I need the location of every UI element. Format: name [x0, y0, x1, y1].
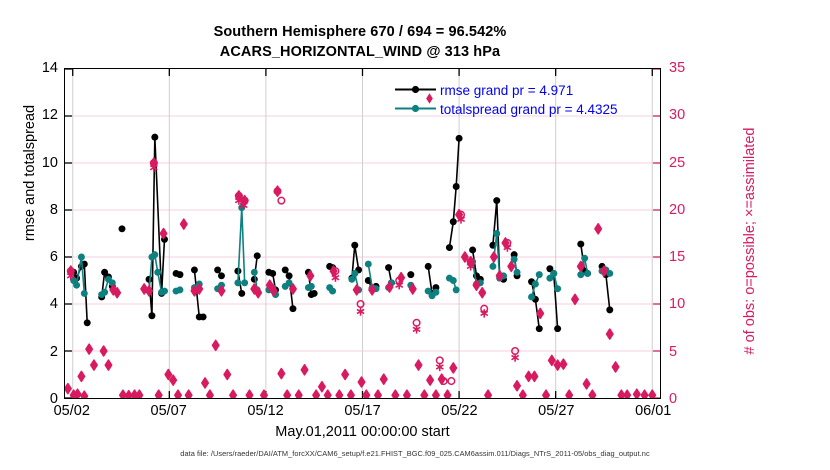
- data-point-marker: [446, 244, 453, 251]
- obs-diamond-marker: [649, 390, 655, 398]
- data-point-marker: [432, 289, 439, 296]
- obs-diamond-marker: [246, 390, 252, 398]
- obs-diamond-marker: [392, 390, 398, 398]
- y-tick-label-right: 5: [669, 344, 677, 360]
- obs-diamond-marker: [491, 252, 497, 262]
- obs-diamond-marker: [624, 390, 630, 398]
- data-point-marker: [606, 306, 613, 313]
- obs-diamond-marker: [301, 365, 307, 375]
- data-point-marker: [536, 325, 543, 332]
- data-point-marker: [119, 225, 126, 232]
- obs-diamond-marker: [105, 360, 111, 370]
- legend-marker-obs-diamond-icon: [407, 89, 452, 108]
- obs-diamond-marker: [230, 390, 236, 398]
- data-point-marker: [214, 266, 221, 273]
- data-point-marker: [329, 288, 336, 295]
- data-point-marker: [351, 270, 358, 277]
- data-point-marker: [251, 269, 258, 276]
- data-point-marker: [241, 279, 248, 286]
- obs-diamond-marker: [224, 370, 230, 380]
- data-point-marker: [532, 281, 539, 288]
- obs-diamond-marker: [520, 390, 526, 398]
- legend-label-totalspread: totalspread grand pr = 4.4325: [440, 102, 618, 117]
- obs-diamond-marker: [485, 390, 491, 398]
- data-point-marker: [148, 312, 155, 319]
- obs-diamond-marker: [634, 389, 640, 398]
- obs-diamond-marker: [65, 384, 71, 394]
- obs-diamond-marker: [325, 390, 331, 398]
- data-point-marker: [456, 135, 463, 142]
- obs-diamond-marker: [342, 370, 348, 380]
- data-point-marker: [73, 282, 80, 289]
- series-line: [532, 282, 540, 329]
- data-point-marker: [101, 289, 108, 296]
- data-point-marker: [286, 272, 293, 279]
- obs-diamond-marker: [607, 329, 613, 339]
- y-tick-label-left: 4: [50, 296, 58, 312]
- obs-diamond-marker: [86, 344, 92, 354]
- x-tick-label: 05/12: [247, 403, 283, 419]
- obs-diamond-marker: [319, 382, 325, 392]
- obs-diamond-marker: [572, 294, 578, 304]
- obs-diamond-marker: [589, 390, 595, 398]
- obs-diamond-marker: [375, 390, 381, 398]
- obs-diamond-marker: [175, 390, 181, 398]
- obs-diamond-marker: [566, 390, 572, 398]
- obs-diamond-marker: [595, 224, 601, 234]
- obs-possible-marker: [413, 320, 420, 327]
- data-point-marker: [577, 271, 584, 278]
- data-point-marker: [453, 183, 460, 190]
- data-point-marker: [238, 290, 245, 297]
- obs-diamond-marker: [296, 390, 302, 398]
- obs-possible-marker: [278, 197, 285, 204]
- data-point-marker: [289, 305, 296, 312]
- obs-diamond-marker: [78, 371, 84, 381]
- chart-title-line-2: ACARS_HORIZONTAL_WIND @ 313 hPa: [0, 42, 720, 62]
- obs-diamond-marker: [415, 360, 421, 370]
- data-point-marker: [151, 134, 158, 141]
- data-point-marker: [581, 255, 588, 262]
- data-point-marker: [176, 286, 183, 293]
- data-point-marker: [218, 272, 225, 279]
- data-point-marker: [234, 279, 241, 286]
- y-tick-label-right: 35: [669, 60, 685, 76]
- y-tick-label-right: 15: [669, 249, 685, 265]
- data-point-marker: [450, 218, 457, 225]
- data-point-marker: [407, 271, 414, 278]
- data-point-marker: [308, 283, 315, 290]
- data-point-marker: [425, 263, 432, 270]
- obs-diamond-marker: [450, 363, 456, 373]
- obs-possible-marker: [448, 378, 455, 385]
- obs-diamond-marker: [381, 374, 387, 384]
- data-point-marker: [81, 290, 88, 297]
- data-point-marker: [176, 271, 183, 278]
- obs-diamond-marker: [479, 288, 485, 298]
- obs-diamond-marker: [508, 261, 514, 271]
- obs-diamond-marker: [514, 381, 520, 391]
- y-tick-label-left: 10: [42, 155, 58, 171]
- obs-diamond-marker: [421, 390, 427, 398]
- data-point-marker: [577, 241, 584, 248]
- data-point-marker: [514, 269, 521, 276]
- obs-diamond-marker: [439, 374, 445, 384]
- obs-diamond-marker: [531, 371, 537, 381]
- data-point-marker: [493, 197, 500, 204]
- x-tick-label: 05/27: [538, 403, 574, 419]
- obs-diamond-marker: [274, 186, 280, 196]
- data-point-marker: [584, 270, 591, 277]
- x-tick-label: 05/17: [344, 403, 380, 419]
- data-point-marker: [151, 251, 158, 258]
- x-tick-label: 05/07: [151, 403, 187, 419]
- obs-diamond-marker: [560, 359, 566, 369]
- legend-label-rmse: rmse grand pr = 4.971: [440, 83, 573, 98]
- data-point-marker: [269, 270, 276, 277]
- figure-canvas: Southern Hemisphere 670 / 694 = 96.542% …: [0, 0, 830, 470]
- obs-diamond-marker: [120, 390, 126, 398]
- data-point-marker: [78, 254, 85, 261]
- obs-diamond-marker: [618, 390, 624, 398]
- data-point-marker: [469, 246, 476, 253]
- data-point-marker: [311, 290, 318, 297]
- obs-diamond-marker: [363, 390, 369, 398]
- data-point-marker: [450, 277, 457, 284]
- data-point-marker: [200, 313, 207, 320]
- x-tick-label: 05/02: [54, 403, 90, 419]
- data-point-marker: [554, 285, 561, 292]
- obs-diamond-marker: [583, 379, 589, 389]
- obs-diamond-marker: [284, 390, 290, 398]
- obs-diamond-marker: [181, 219, 187, 229]
- x-tick-label: 05/22: [441, 403, 477, 419]
- obs-diamond-marker: [202, 378, 208, 388]
- series-line: [449, 138, 459, 247]
- data-point-marker: [365, 261, 372, 268]
- data-point-marker: [84, 319, 91, 326]
- y-tick-label-left: 12: [42, 107, 58, 123]
- data-point-marker: [489, 263, 496, 270]
- data-point-marker: [528, 293, 535, 300]
- data-point-marker: [453, 286, 460, 293]
- y-axis-left-label: rmse and totalspread: [22, 38, 38, 308]
- data-point-marker: [254, 252, 261, 259]
- obs-diamond-marker: [100, 346, 106, 356]
- data-point-marker: [536, 271, 543, 278]
- obs-diamond-marker: [427, 375, 433, 385]
- data-point-marker: [154, 269, 161, 276]
- chart-title-line-1: Southern Hemisphere 670 / 694 = 96.542%: [0, 22, 720, 42]
- y-tick-label-right: 25: [669, 155, 685, 171]
- x-tick-label: 06/01: [635, 403, 671, 419]
- data-point-marker: [161, 288, 168, 295]
- obs-diamond-marker: [313, 390, 319, 398]
- data-point-marker: [493, 230, 500, 237]
- obs-diamond-marker: [336, 390, 342, 398]
- data-file-note: data file: /Users/raeder/DAI/ATM_forcXX/…: [0, 449, 830, 458]
- data-point-marker: [554, 325, 561, 332]
- obs-diamond-marker: [81, 391, 87, 398]
- chart-title: Southern Hemisphere 670 / 694 = 96.542% …: [0, 22, 720, 62]
- y-tick-label-right: 30: [669, 107, 685, 123]
- y-tick-label-right: 10: [669, 296, 685, 312]
- data-point-marker: [550, 270, 557, 277]
- obs-diamond-marker: [91, 360, 97, 370]
- obs-diamond-marker: [136, 390, 142, 398]
- obs-diamond-marker: [156, 390, 162, 398]
- data-point-marker: [385, 264, 392, 271]
- obs-diamond-marker: [354, 285, 360, 295]
- x-axis-label: May.01,2011 00:00:00 start: [64, 424, 661, 440]
- obs-diamond-marker: [212, 340, 218, 350]
- y-axis-right-label: # of obs: o=possible; ×=assimilated: [742, 76, 758, 406]
- obs-diamond-marker: [549, 355, 555, 365]
- obs-diamond-marker: [207, 390, 213, 398]
- data-point-marker: [282, 266, 289, 273]
- obs-diamond-marker: [185, 390, 191, 398]
- plot-canvas: [65, 69, 660, 398]
- data-point-marker: [191, 266, 198, 273]
- obs-diamond-marker: [74, 389, 80, 398]
- y-tick-label-left: 8: [50, 202, 58, 218]
- obs-diamond-marker: [433, 390, 439, 398]
- chart-legend: rmse grand pr = 4.971 totalspread grand …: [393, 80, 653, 118]
- obs-diamond-marker: [404, 390, 410, 398]
- obs-diamond-marker: [641, 390, 647, 398]
- obs-diamond-marker: [444, 390, 450, 398]
- data-point-marker: [351, 242, 358, 249]
- y-tick-label-left: 2: [50, 344, 58, 360]
- obs-possible-marker: [436, 357, 443, 364]
- y-tick-label-left: 6: [50, 249, 58, 265]
- y-tick-label-right: 20: [669, 202, 685, 218]
- obs-diamond-marker: [278, 369, 284, 379]
- obs-diamond-marker: [358, 377, 364, 387]
- obs-diamond-marker: [612, 362, 618, 372]
- obs-diamond-marker: [543, 390, 549, 398]
- y-tick-label-left: 14: [42, 60, 58, 76]
- obs-diamond-marker: [348, 390, 354, 398]
